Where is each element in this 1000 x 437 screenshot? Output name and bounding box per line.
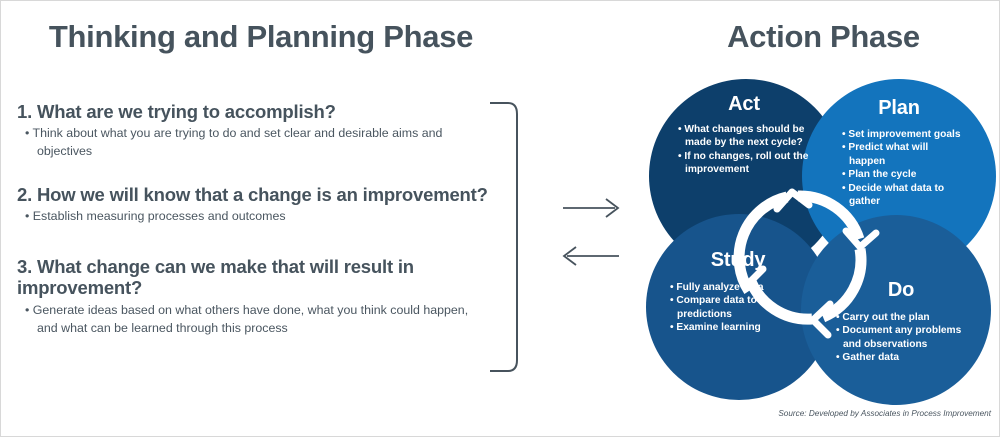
question-block-2: 2. How we will know that a change is an … (17, 184, 517, 226)
list-item: Document any problems and observations (836, 324, 976, 351)
quadrant-label-do: Do (846, 279, 956, 302)
question-3-detail: • Generate ideas based on what others ha… (37, 302, 517, 337)
arrow-right-icon (563, 199, 618, 217)
list-item: Gather data (836, 351, 976, 364)
thinking-phase-title: Thinking and Planning Phase (1, 19, 521, 55)
quadrant-items-act: What changes should be made by the next … (678, 123, 814, 177)
quadrant-label-act: Act (684, 93, 804, 116)
list-item: If no changes, roll out the improvement (678, 150, 814, 177)
action-phase-panel: Action Phase (646, 1, 1000, 437)
list-item: Decide what data to gather (842, 182, 964, 209)
quadrant-items-study: Fully analyze data Compare data to predi… (670, 281, 810, 335)
thinking-and-planning-panel: Thinking and Planning Phase 1. What are … (1, 1, 521, 437)
source-attribution: Source: Developed by Associates in Proce… (601, 409, 991, 418)
flow-arrows-group (561, 186, 651, 276)
arrow-left-icon (564, 247, 619, 265)
list-item: Set improvement goals (842, 128, 964, 141)
question-block-1: 1. What are we trying to accomplish? • T… (17, 101, 517, 161)
list-item: Predict what will happen (842, 141, 964, 168)
question-1-detail: • Think about what you are trying to do … (37, 125, 517, 160)
pdsa-cycle-diagram: Act What changes should be made by the n… (646, 79, 1000, 405)
list-item: What changes should be made by the next … (678, 123, 814, 150)
pdsa-model-slide: Thinking and Planning Phase 1. What are … (0, 0, 1000, 437)
question-3-heading: 3. What change can we make that will res… (17, 256, 517, 299)
action-phase-title: Action Phase (646, 19, 1000, 55)
quadrant-label-study: Study (678, 249, 798, 272)
list-item: Fully analyze data (670, 281, 810, 294)
quadrant-label-plan: Plan (844, 97, 954, 120)
quadrant-items-plan: Set improvement goals Predict what will … (842, 128, 964, 209)
right-curly-bracket-icon (488, 101, 520, 373)
list-item: Plan the cycle (842, 168, 964, 181)
list-item: Compare data to predictions (670, 294, 810, 321)
question-1-heading: 1. What are we trying to accomplish? (17, 101, 517, 122)
quadrant-items-do: Carry out the plan Document any problems… (836, 311, 976, 365)
question-2-heading: 2. How we will know that a change is an … (17, 184, 517, 205)
list-item: Examine learning (670, 321, 810, 334)
question-block-3: 3. What change can we make that will res… (17, 256, 517, 337)
list-item: Carry out the plan (836, 311, 976, 324)
question-2-detail: • Establish measuring processes and outc… (37, 208, 517, 226)
